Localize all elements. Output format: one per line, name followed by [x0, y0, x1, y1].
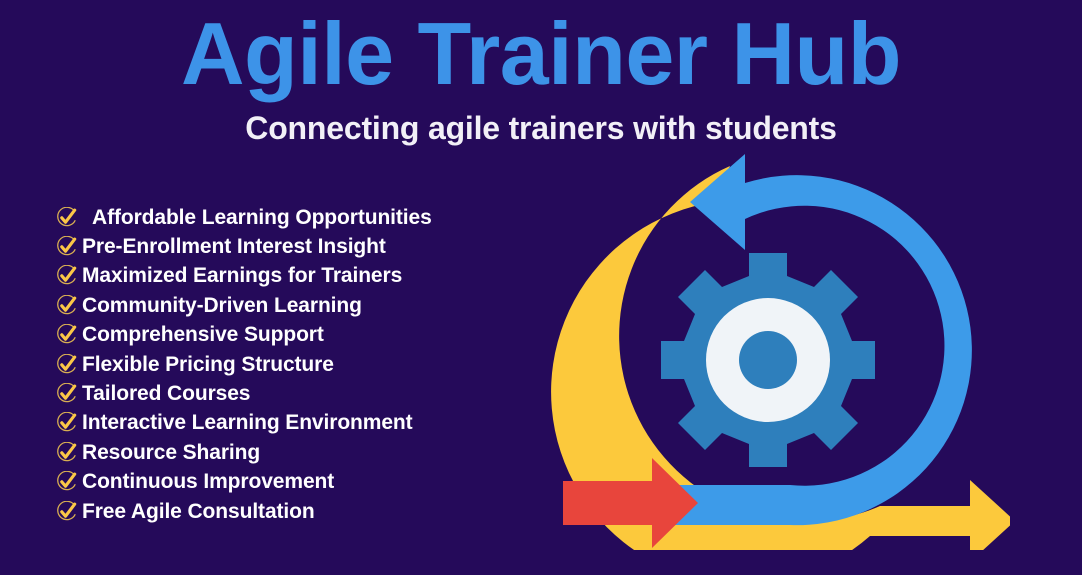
list-item: Pre-Enrollment Interest Insight: [56, 232, 526, 261]
check-circle-icon: [56, 471, 78, 493]
list-item: Interactive Learning Environment: [56, 409, 526, 438]
list-item: Affordable Learning Opportunities: [56, 203, 526, 232]
feature-label: Community-Driven Learning: [82, 294, 362, 318]
check-circle-icon: [56, 236, 78, 258]
feature-label: Resource Sharing: [82, 441, 260, 465]
poster-canvas: Agile Trainer Hub Connecting agile train…: [0, 0, 1082, 575]
gear-icon: [661, 253, 875, 467]
feature-label: Maximized Earnings for Trainers: [82, 264, 402, 288]
list-item: Resource Sharing: [56, 438, 526, 467]
check-circle-icon: [56, 207, 78, 229]
feature-label: Free Agile Consultation: [82, 500, 315, 524]
check-circle-icon: [56, 265, 78, 287]
list-item: Free Agile Consultation: [56, 497, 526, 526]
feature-label: Affordable Learning Opportunities: [82, 206, 432, 230]
check-circle-icon: [56, 324, 78, 346]
feature-list: Affordable Learning Opportunities Pre-En…: [56, 203, 526, 526]
agile-cycle-svg: [540, 140, 1010, 550]
feature-label: Flexible Pricing Structure: [82, 353, 334, 377]
check-circle-icon: [56, 383, 78, 405]
header: Agile Trainer Hub Connecting agile train…: [0, 0, 1082, 160]
check-circle-icon: [56, 501, 78, 523]
list-item: Community-Driven Learning: [56, 291, 526, 320]
list-item: Flexible Pricing Structure: [56, 350, 526, 379]
feature-label: Comprehensive Support: [82, 323, 324, 347]
gear-center-hole: [739, 331, 797, 389]
feature-label: Tailored Courses: [82, 382, 250, 406]
list-item: Continuous Improvement: [56, 468, 526, 497]
list-item: Maximized Earnings for Trainers: [56, 262, 526, 291]
check-circle-icon: [56, 295, 78, 317]
check-circle-icon: [56, 412, 78, 434]
feature-label: Pre-Enrollment Interest Insight: [82, 235, 386, 259]
list-item: Tailored Courses: [56, 379, 526, 408]
list-item: Comprehensive Support: [56, 321, 526, 350]
check-circle-icon: [56, 354, 78, 376]
feature-label: Interactive Learning Environment: [82, 411, 413, 435]
agile-cycle-illustration: [540, 140, 1010, 550]
feature-label: Continuous Improvement: [82, 470, 334, 494]
check-circle-icon: [56, 442, 78, 464]
page-title: Agile Trainer Hub: [0, 4, 1082, 104]
